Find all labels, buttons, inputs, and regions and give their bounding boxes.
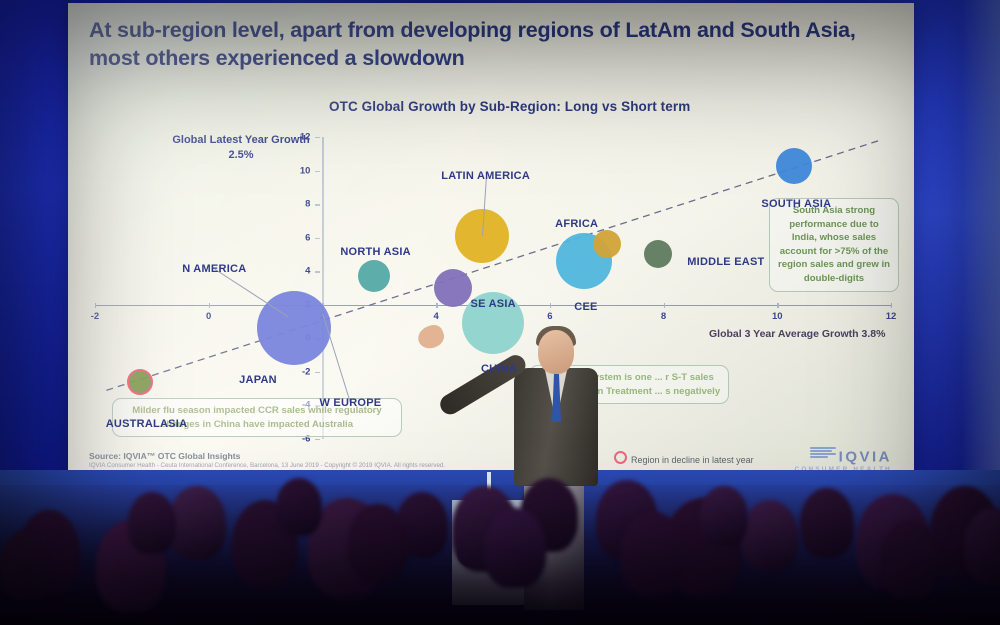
y-tick-mark: [315, 204, 320, 205]
bubble-africa[interactable]: [593, 230, 621, 258]
label-w-europe: W EUROPE: [319, 397, 381, 409]
audience-member: [620, 512, 686, 596]
audience-member: [128, 492, 176, 554]
global-3yr-average-growth-note: Global 3 Year Average Growth 3.8%: [709, 328, 885, 340]
source-text: Source: IQVIA™ OTC Global Insights: [89, 451, 240, 461]
label-north-asia: NORTH ASIA: [340, 246, 411, 258]
decline-legend-label: Region in decline in latest year: [631, 455, 754, 465]
label-australasia: AUSTRALASIA: [106, 418, 188, 430]
y-axis-tick: 4: [288, 266, 310, 277]
audience-member: [168, 486, 226, 560]
logo-wordmark: IQVIA: [839, 448, 892, 465]
audience-member: [742, 500, 798, 572]
x-axis-tick: 8: [661, 311, 666, 322]
label-china: CHINA: [481, 363, 517, 375]
label-se-asia: SE ASIA: [471, 298, 516, 310]
x-tick-mark: [436, 303, 437, 308]
right-wall-panel: [910, 0, 1000, 470]
y-tick-mark: [315, 171, 320, 172]
audience-member: [700, 486, 748, 546]
speaker-head: [538, 330, 574, 374]
y-axis-tick: -2: [288, 366, 310, 377]
bubble-south-asia[interactable]: [776, 148, 812, 184]
left-wall-panel: [0, 0, 70, 470]
bubble-se-asia[interactable]: [434, 269, 472, 307]
audience-member: [484, 508, 546, 588]
audience-member: [880, 520, 940, 598]
label-latin-america: LATIN AMERICA: [441, 170, 530, 182]
decline-ring-icon: [614, 451, 627, 464]
decline-legend: Region in decline in latest year: [614, 451, 754, 465]
y-axis-tick: 12: [288, 132, 310, 143]
audience-member: [0, 530, 52, 600]
label-cee: CEE: [574, 301, 597, 313]
logo-bars-icon: [810, 447, 836, 459]
chart-title: OTC Global Growth by Sub-Region: Long vs…: [329, 99, 690, 114]
x-tick-mark: [777, 303, 778, 308]
x-tick-mark: [95, 303, 96, 308]
label-japan: JAPAN: [239, 374, 277, 386]
x-axis-tick: 10: [772, 311, 783, 322]
bubble-australasia[interactable]: [127, 369, 153, 395]
south-asia-callout: South Asia strong performance due to Ind…: [769, 198, 899, 292]
y-tick-mark: [315, 271, 320, 272]
y-tick-mark: [315, 238, 320, 239]
conference-photo: At sub-region level, apart from developi…: [0, 0, 1000, 625]
x-axis-tick: 0: [206, 311, 211, 322]
audience-member: [348, 504, 408, 582]
y-tick-mark: [315, 137, 320, 138]
audience-member: [276, 478, 322, 536]
label-middle-east: MIDDLE EAST: [687, 256, 764, 268]
x-axis-tick: 12: [886, 311, 897, 322]
slide-title: At sub-region level, apart from developi…: [89, 17, 889, 73]
x-tick-mark: [664, 303, 665, 308]
x-axis-tick: 4: [433, 311, 438, 322]
y-tick-mark: [315, 372, 320, 373]
y-axis-tick: 10: [288, 165, 310, 176]
y-tick-mark: [315, 439, 320, 440]
y-axis-tick: 6: [288, 232, 310, 243]
y-axis-tick: 8: [288, 199, 310, 210]
copyright-footer: IQVIA Consumer Health - Ceuta Internatio…: [89, 462, 445, 469]
x-tick-mark: [209, 303, 210, 308]
audience-member: [800, 488, 854, 558]
bubble-middle-east[interactable]: [644, 240, 672, 268]
label-africa: AFRICA: [555, 218, 598, 230]
x-axis-tick: -2: [91, 311, 99, 322]
bubble-north-asia[interactable]: [358, 260, 390, 292]
x-tick-mark: [891, 303, 892, 308]
label-n-america: N AMERICA: [182, 263, 246, 275]
label-south-asia: SOUTH ASIA: [761, 198, 831, 210]
